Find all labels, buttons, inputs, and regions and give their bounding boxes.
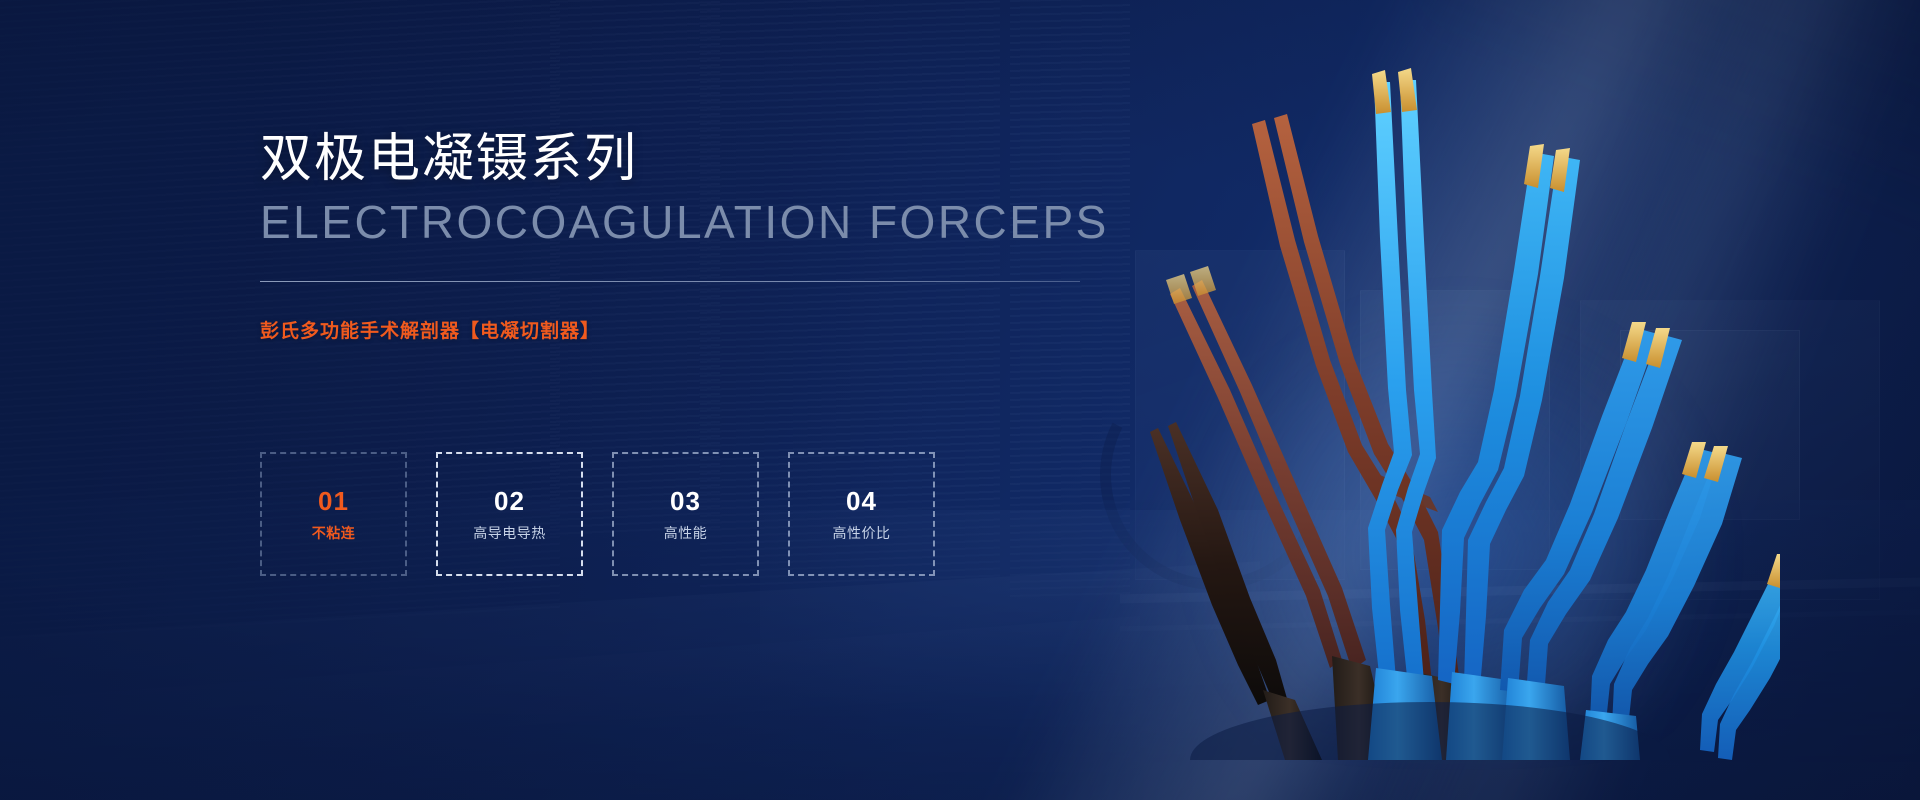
product-image-forceps (1080, 60, 1780, 760)
feature-number: 02 (494, 488, 525, 514)
feature-number: 04 (846, 488, 877, 514)
title-divider (260, 281, 1080, 282)
feature-card-03[interactable]: 03 高性能 (612, 452, 759, 576)
page-title: 双极电凝镊系列 (260, 130, 1160, 188)
product-banner: 双极电凝镊系列 ELECTROCOAGULATION FORCEPS 彭氏多功能… (0, 0, 1920, 800)
feature-card-02[interactable]: 02 高导电导热 (436, 452, 583, 576)
feature-number: 03 (670, 488, 701, 514)
feature-number: 01 (318, 488, 349, 514)
feature-label: 高性能 (664, 526, 708, 540)
forceps-blue-5 (1700, 554, 1780, 760)
banner-text-block: 双极电凝镊系列 ELECTROCOAGULATION FORCEPS 彭氏多功能… (260, 130, 1160, 343)
feature-label: 高性价比 (833, 526, 891, 540)
forceps-blue-1 (1368, 68, 1442, 760)
feature-card-04[interactable]: 04 高性价比 (788, 452, 935, 576)
feature-list: 01 不粘连 02 高导电导热 03 高性能 04 高性价比 (260, 452, 935, 576)
feature-card-01[interactable]: 01 不粘连 (260, 452, 407, 576)
feature-label: 高导电导热 (473, 526, 546, 540)
page-subtitle-english: ELECTROCOAGULATION FORCEPS (260, 198, 1160, 247)
forceps-black-1 (1150, 422, 1322, 760)
feature-label: 不粘连 (312, 526, 356, 540)
product-tagline: 彭氏多功能手术解剖器【电凝切割器】 (260, 316, 1160, 343)
